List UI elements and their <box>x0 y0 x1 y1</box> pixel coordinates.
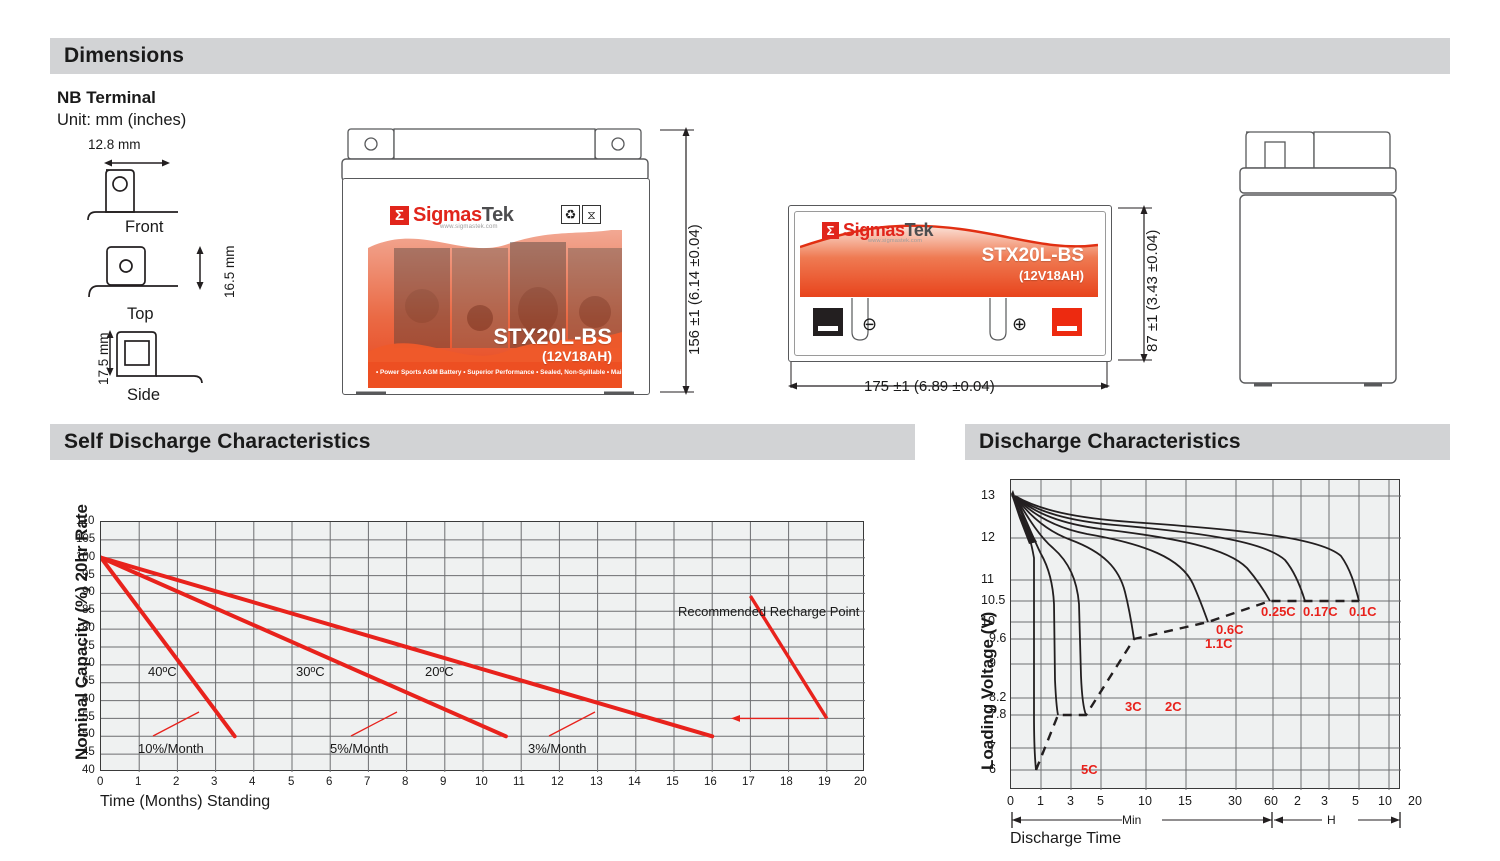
sd-ytick-85: 85 <box>82 604 95 616</box>
sd-ytick-95: 95 <box>82 569 95 581</box>
dc-ytick-6.0: 6 <box>989 762 996 776</box>
battery-front-lid <box>340 127 650 182</box>
battery-top-model: STX20L-BS <box>982 245 1084 267</box>
label-0.25c: 0.25C <box>1261 604 1296 619</box>
sd-xtick-10: 10 <box>475 776 488 788</box>
sd-ytick-55: 55 <box>82 711 95 723</box>
battery-top-terminals <box>794 298 1104 356</box>
dc-ytick-9.0: 9 <box>989 656 996 670</box>
sd-ytick-90: 90 <box>82 586 95 598</box>
sd-ytick-70: 70 <box>82 657 95 669</box>
annotation-10-percent-month: 10%/Month <box>138 741 204 756</box>
sd-xtick-11: 11 <box>513 776 525 788</box>
label-2c: 2C <box>1165 699 1182 714</box>
brand-name-first: Sigmas <box>413 204 482 226</box>
terminal-depth-arrow <box>194 246 206 290</box>
sd-ytick-100: 100 <box>76 551 95 563</box>
annotation-5-percent-month: 5%/Month <box>330 741 389 756</box>
battery-front-feet <box>342 386 648 400</box>
sd-ytick-65: 65 <box>82 675 95 687</box>
terminal-side-label: Side <box>127 386 160 405</box>
annotation-20c: 20ºC <box>425 664 454 679</box>
sd-xtick-4: 4 <box>249 776 255 788</box>
terminal-width-label: 12.8 mm <box>88 137 141 152</box>
terminal-side-view <box>112 328 212 383</box>
dc-ytick-7.0: 7 <box>989 740 996 754</box>
dc-ytick-8.2: 8.2 <box>989 690 1006 704</box>
sd-ytick-80: 80 <box>82 622 95 634</box>
dc-ytick-9.6: 9.6 <box>989 631 1006 645</box>
dc-xtick-2-h: 2 <box>1294 794 1301 808</box>
dimensions-title: Dimensions <box>50 44 184 68</box>
dc-ytick-13.0: 13 <box>981 488 995 502</box>
dc-xtick-10-min: 10 <box>1138 794 1152 808</box>
sd-xtick-16: 16 <box>704 776 717 788</box>
battery-front-label: Σ SigmasTek www.sigmastek.com ♻ ⧖ STX20L… <box>368 202 622 388</box>
label-0.1c: 0.1C <box>1349 604 1376 619</box>
battery-top-label: Σ SigmasTek www.sigmastek.com STX20L-BS … <box>800 217 1098 297</box>
label-3c: 3C <box>1125 699 1142 714</box>
dc-xtick-20-h: 20 <box>1408 794 1422 808</box>
dc-xtick-30-min: 30 <box>1228 794 1242 808</box>
positive-terminal-icon: ⊕ <box>1012 315 1027 333</box>
label-0.17c: 0.17C <box>1303 604 1338 619</box>
nb-terminal-title: NB Terminal <box>57 88 156 108</box>
discharge-x-axis-title: Discharge Time <box>1010 830 1121 848</box>
annotation-recharge-point: Recommended Recharge Point <box>678 604 859 619</box>
dc-xtick-3-h: 3 <box>1321 794 1328 808</box>
sd-xtick-18: 18 <box>780 776 793 788</box>
discharge-plot-area <box>1010 479 1400 789</box>
sd-xtick-5: 5 <box>288 776 294 788</box>
dc-ytick-11.0: 11 <box>981 572 994 586</box>
terminal-top-view <box>86 243 198 301</box>
sd-xtick-20: 20 <box>854 776 867 788</box>
annotation-30c: 30ºC <box>296 664 325 679</box>
battery-depth-dimension: 87 ±1 (3.43 ±0.04) <box>1144 230 1161 352</box>
sd-xtick-12: 12 <box>551 776 564 788</box>
dc-xtick-0-min: 0 <box>1007 794 1014 808</box>
brand-name-first-top: Sigmas <box>843 220 905 240</box>
curve-0.1c <box>1015 496 1359 601</box>
dimensions-section-header: Dimensions <box>50 38 1450 74</box>
self-discharge-x-axis-title: Time (Months) Standing <box>100 793 270 811</box>
sd-xtick-0: 0 <box>97 776 103 788</box>
sd-xtick-2: 2 <box>173 776 179 788</box>
terminal-front-view <box>86 166 198 221</box>
sd-ytick-45: 45 <box>82 746 95 758</box>
axis-bracket-hour-label: H <box>1327 813 1336 827</box>
axis-bracket-min-label: Min <box>1122 813 1141 827</box>
recycle-icon: ♻ <box>561 205 580 224</box>
curve-1.1c <box>1015 496 1134 639</box>
unit-note: Unit: mm (inches) <box>57 111 186 130</box>
dc-ytick-10.5: 10.5 <box>981 593 1005 607</box>
dc-xtick-10-h: 10 <box>1378 794 1392 808</box>
discharge-section-header: Discharge Characteristics <box>965 424 1450 460</box>
sd-xtick-7: 7 <box>364 776 370 788</box>
sd-ytick-110: 110 <box>76 515 94 527</box>
dc-xtick-15-min: 15 <box>1178 794 1192 808</box>
weee-icon: ⧖ <box>582 205 601 224</box>
battery-front-model: STX20L-BS <box>493 324 612 350</box>
dc-xtick-3-min: 3 <box>1067 794 1074 808</box>
brand-url-top: www.sigmastek.com <box>868 238 922 244</box>
label-0.6c: 0.6C <box>1216 622 1243 637</box>
cutoff-envelope <box>1036 601 1359 770</box>
annotation-40c: 40ºC <box>148 664 177 679</box>
sd-xtick-19: 19 <box>818 776 831 788</box>
self-discharge-section-header: Self Discharge Characteristics <box>50 424 915 460</box>
sd-xtick-15: 15 <box>666 776 679 788</box>
sd-ytick-75: 75 <box>82 640 95 652</box>
brand-sigma-mark: Σ <box>390 206 409 225</box>
sd-xtick-3: 3 <box>211 776 217 788</box>
annotation-3-percent-month: 3%/Month <box>528 741 587 756</box>
sd-ytick-60: 60 <box>82 693 95 705</box>
dc-xtick-5-h: 5 <box>1352 794 1359 808</box>
label-5c: 5C <box>1081 762 1098 777</box>
terminal-depth-label: 16.5 mm <box>222 245 237 298</box>
terminal-front-label: Front <box>125 218 164 237</box>
self-discharge-plot-area <box>100 521 864 771</box>
discharge-axis-brackets <box>1010 810 1402 832</box>
brand-sigma-mark-top: Σ <box>822 222 839 239</box>
dc-xtick-5-min: 5 <box>1097 794 1104 808</box>
sd-xtick-13: 13 <box>590 776 603 788</box>
dc-xtick-1-min: 1 <box>1037 794 1044 808</box>
battery-front-rating: (12V18AH) <box>542 348 612 364</box>
sd-xtick-9: 9 <box>440 776 446 788</box>
dc-xtick-60-min: 60 <box>1264 794 1278 808</box>
dc-ytick-10.0: 10 <box>981 614 995 628</box>
sd-xtick-1: 1 <box>135 776 141 788</box>
terminal-top-label: Top <box>127 305 154 324</box>
battery-length-dimension: 175 ±1 (6.89 ±0.04) <box>864 378 995 395</box>
brand-url: www.sigmastek.com <box>440 224 498 230</box>
negative-terminal-icon: ⊖ <box>862 315 877 333</box>
battery-height-dimension: 156 ±1 (6.14 ±0.04) <box>686 224 703 355</box>
discharge-title: Discharge Characteristics <box>965 430 1241 454</box>
self-discharge-title: Self Discharge Characteristics <box>50 430 370 454</box>
label-1.1c: 1.1C <box>1205 636 1232 651</box>
sd-ytick-40: 40 <box>82 764 95 776</box>
sd-xtick-14: 14 <box>628 776 641 788</box>
sd-xtick-17: 17 <box>742 776 755 788</box>
dc-ytick-12.0: 12 <box>981 530 995 544</box>
battery-top-rating: (12V18AH) <box>1019 268 1084 283</box>
sd-xtick-6: 6 <box>326 776 332 788</box>
battery-side-outline-view <box>1236 128 1404 394</box>
brand-name-second: Tek <box>482 204 514 226</box>
sd-xtick-8: 8 <box>402 776 408 788</box>
sd-ytick-50: 50 <box>82 728 95 740</box>
battery-front-tagline: • Power Sports AGM Battery • Superior Pe… <box>376 369 622 376</box>
dc-ytick-7.8: 7.8 <box>989 707 1006 721</box>
sd-ytick-105: 105 <box>76 533 95 545</box>
brand-name-second-top: Tek <box>905 220 933 240</box>
